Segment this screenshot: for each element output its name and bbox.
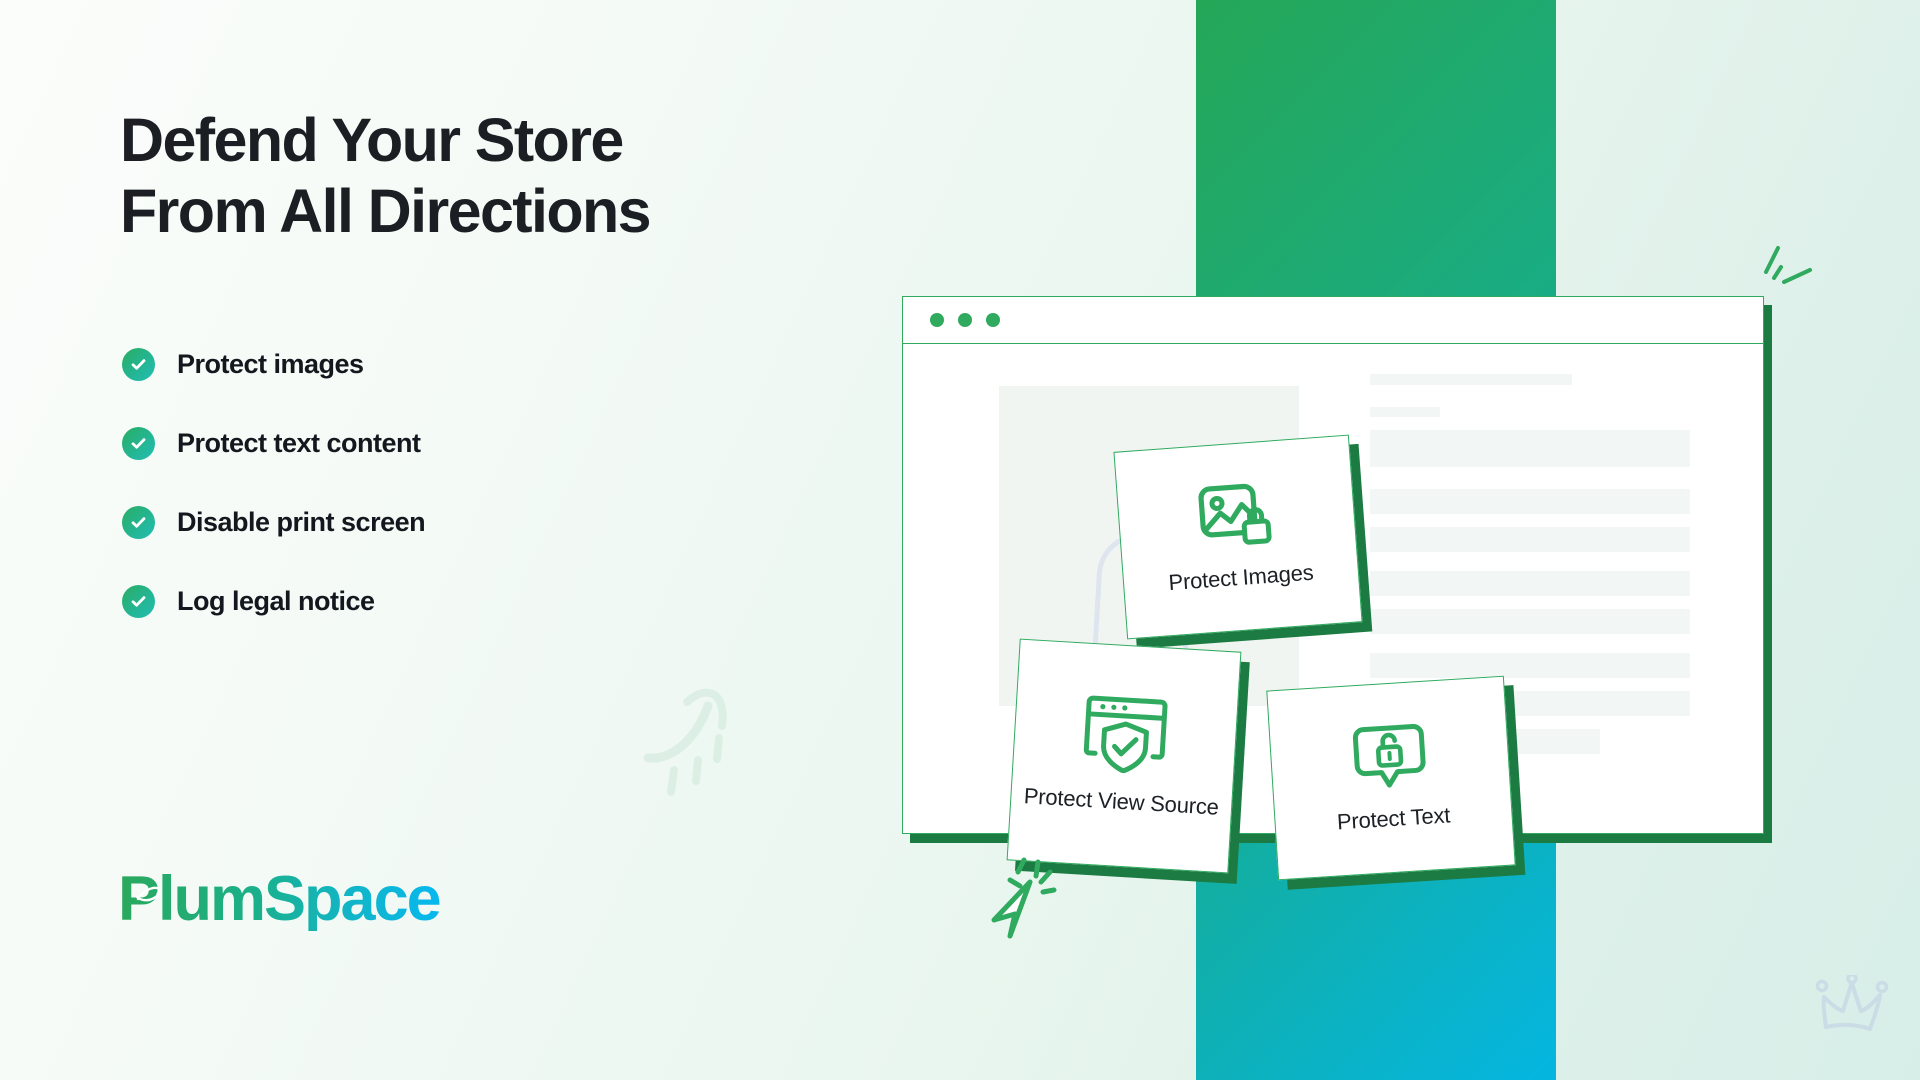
placeholder-line (1370, 571, 1690, 596)
headline-line-2: From All Directions (120, 177, 650, 245)
speech-bubble-lock-icon (1351, 721, 1429, 792)
placeholder-line (1370, 374, 1572, 385)
check-circle-icon (122, 585, 155, 618)
list-item-label: Log legal notice (177, 586, 375, 617)
planet-rocket-icon (135, 885, 161, 907)
list-item-label: Disable print screen (177, 507, 425, 538)
list-item: Protect text content (122, 404, 742, 483)
placeholder-line (1370, 527, 1690, 552)
feature-list: Protect images Protect text content Disa… (122, 325, 742, 641)
check-circle-icon (122, 427, 155, 460)
image-lock-icon (1197, 480, 1276, 551)
brand-name: PlumSpace (118, 868, 440, 931)
feature-card-label: Protect Text (1336, 802, 1451, 836)
list-item: Disable print screen (122, 483, 742, 562)
promo-banner: Defend Your Store From All Directions Pr… (0, 0, 1920, 1080)
check-circle-icon (122, 506, 155, 539)
sketch-strokes-doodle (1758, 240, 1828, 310)
placeholder-line (1370, 489, 1690, 514)
click-cursor-icon (988, 852, 1066, 944)
feature-card-protect-text[interactable]: Protect Text (1266, 676, 1515, 881)
crown-doodle (1812, 975, 1892, 1045)
placeholder-line (1370, 609, 1690, 634)
list-item-label: Protect images (177, 349, 364, 380)
check-circle-icon (122, 348, 155, 381)
placeholder-line (1370, 407, 1440, 417)
placeholder-line (1370, 653, 1690, 678)
window-dot-icon (958, 313, 972, 327)
list-item: Log legal notice (122, 562, 742, 641)
browser-titlebar (903, 297, 1763, 344)
window-dot-icon (930, 313, 944, 327)
feature-card-label: Protect View Source (1023, 783, 1219, 821)
list-item: Protect images (122, 325, 742, 404)
feature-card-label: Protect Images (1168, 559, 1315, 596)
list-item-label: Protect text content (177, 428, 421, 459)
feature-card-protect-view-source[interactable]: Protect View Source (1007, 639, 1242, 874)
placeholder-line (1370, 430, 1690, 467)
page-title: Defend Your Store From All Directions (120, 105, 820, 248)
feature-card-protect-images[interactable]: Protect Images (1113, 435, 1362, 640)
window-dot-icon (986, 313, 1000, 327)
headline-line-1: Defend Your Store (120, 106, 623, 174)
brand-logo: PlumSpace (118, 868, 440, 931)
growth-arrow-doodle (640, 680, 750, 800)
browser-shield-check-icon (1082, 694, 1168, 775)
